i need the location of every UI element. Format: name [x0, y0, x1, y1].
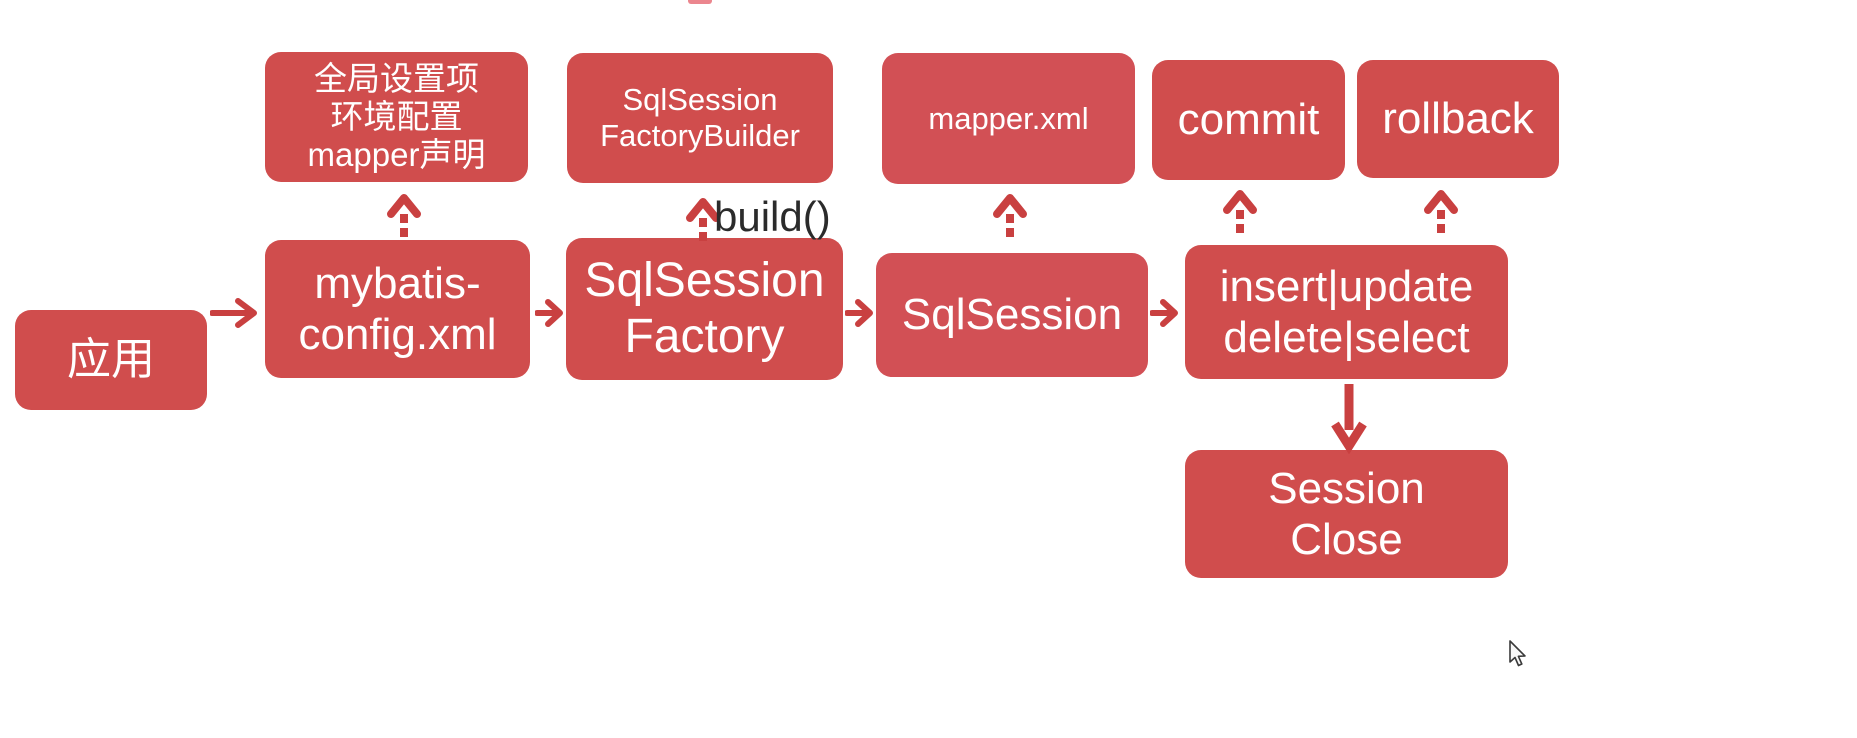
arrow-crud-to-rollback	[1420, 188, 1462, 236]
arrow-session-to-mapper	[989, 192, 1031, 240]
node-sqlsession[interactable]: SqlSession	[876, 253, 1148, 377]
arrow-config-to-global	[383, 192, 425, 240]
mouse-pointer-icon	[1508, 640, 1530, 670]
arrow-session-to-crud	[1150, 296, 1184, 330]
node-sqlsessionfactorybuilder[interactable]: SqlSession FactoryBuilder	[567, 53, 833, 183]
node-session-close[interactable]: Session Close	[1185, 450, 1508, 578]
node-application[interactable]: 应用	[15, 310, 207, 410]
node-rollback[interactable]: rollback	[1357, 60, 1559, 178]
edge-label-build: build()	[714, 196, 831, 238]
node-global-settings[interactable]: 全局设置项 环境配置 mapper声明	[265, 52, 528, 182]
arrow-factory-to-session	[845, 296, 879, 330]
cropped-shape-fragment	[688, 0, 712, 4]
arrow-config-to-factory	[535, 296, 569, 330]
node-mapper-xml[interactable]: mapper.xml	[882, 53, 1135, 184]
node-commit[interactable]: commit	[1152, 60, 1345, 180]
arrow-crud-to-session-close	[1327, 382, 1371, 454]
arrow-crud-to-commit	[1219, 188, 1261, 236]
node-crud-operations[interactable]: insert|update delete|select	[1185, 245, 1508, 379]
diagram-canvas: 全局设置项 环境配置 mapper声明 SqlSession FactoryBu…	[0, 0, 1857, 738]
arrow-app-to-config	[210, 295, 266, 331]
node-sqlsessionfactory[interactable]: SqlSession Factory	[566, 238, 843, 380]
node-mybatis-config-xml[interactable]: mybatis- config.xml	[265, 240, 530, 378]
